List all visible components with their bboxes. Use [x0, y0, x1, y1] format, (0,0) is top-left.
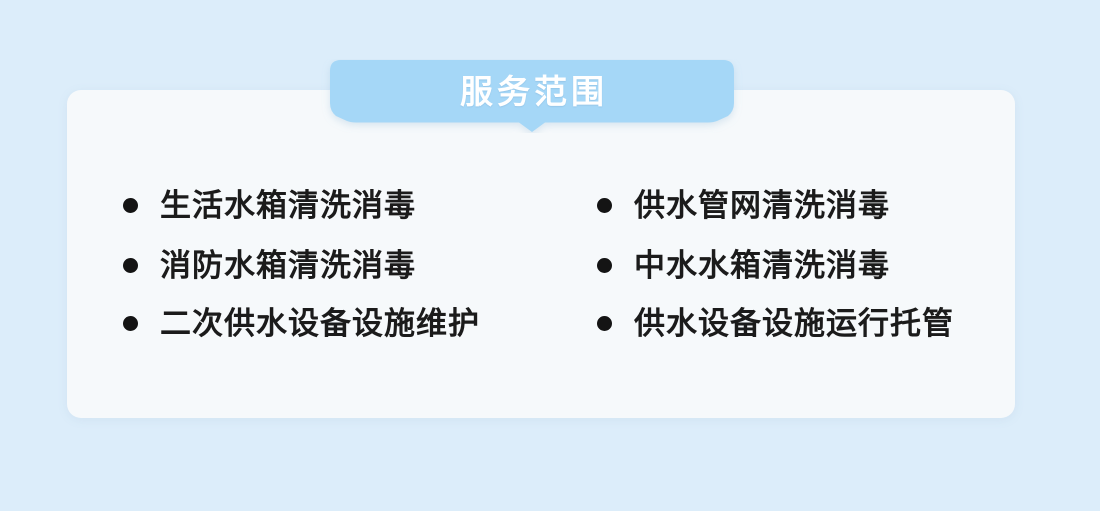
service-scope-card: 生活水箱清洗消毒 消防水箱清洗消毒 二次供水设备设施维护 供水管网清洗消毒: [67, 90, 1015, 418]
list-item: 中水水箱清洗消毒: [597, 242, 890, 288]
service-item-label: 消防水箱清洗消毒: [160, 250, 416, 281]
bullet-dot-icon: [597, 258, 612, 273]
service-item-label: 供水设备设施运行托管: [634, 308, 954, 339]
list-item: 供水设备设施运行托管: [597, 300, 954, 346]
service-column-left: 生活水箱清洗消毒 消防水箱清洗消毒 二次供水设备设施维护: [123, 90, 543, 418]
list-item: 生活水箱清洗消毒: [123, 182, 416, 228]
service-item-label: 供水管网清洗消毒: [634, 190, 890, 221]
bullet-dot-icon: [123, 316, 138, 331]
list-item: 消防水箱清洗消毒: [123, 242, 416, 288]
service-item-label: 中水水箱清洗消毒: [634, 250, 890, 281]
page-root: 生活水箱清洗消毒 消防水箱清洗消毒 二次供水设备设施维护 供水管网清洗消毒: [0, 0, 1100, 511]
bullet-dot-icon: [123, 258, 138, 273]
service-column-right: 供水管网清洗消毒 中水水箱清洗消毒 供水设备设施运行托管: [597, 90, 997, 418]
bullet-dot-icon: [597, 198, 612, 213]
list-item: 二次供水设备设施维护: [123, 300, 480, 346]
service-list: 生活水箱清洗消毒 消防水箱清洗消毒 二次供水设备设施维护 供水管网清洗消毒: [67, 90, 1015, 418]
service-item-label: 二次供水设备设施维护: [160, 308, 480, 339]
section-banner: 服务范围: [320, 59, 744, 133]
banner-title: 服务范围: [320, 59, 744, 123]
bullet-dot-icon: [123, 198, 138, 213]
bullet-dot-icon: [597, 316, 612, 331]
list-item: 供水管网清洗消毒: [597, 182, 890, 228]
service-item-label: 生活水箱清洗消毒: [160, 190, 416, 221]
